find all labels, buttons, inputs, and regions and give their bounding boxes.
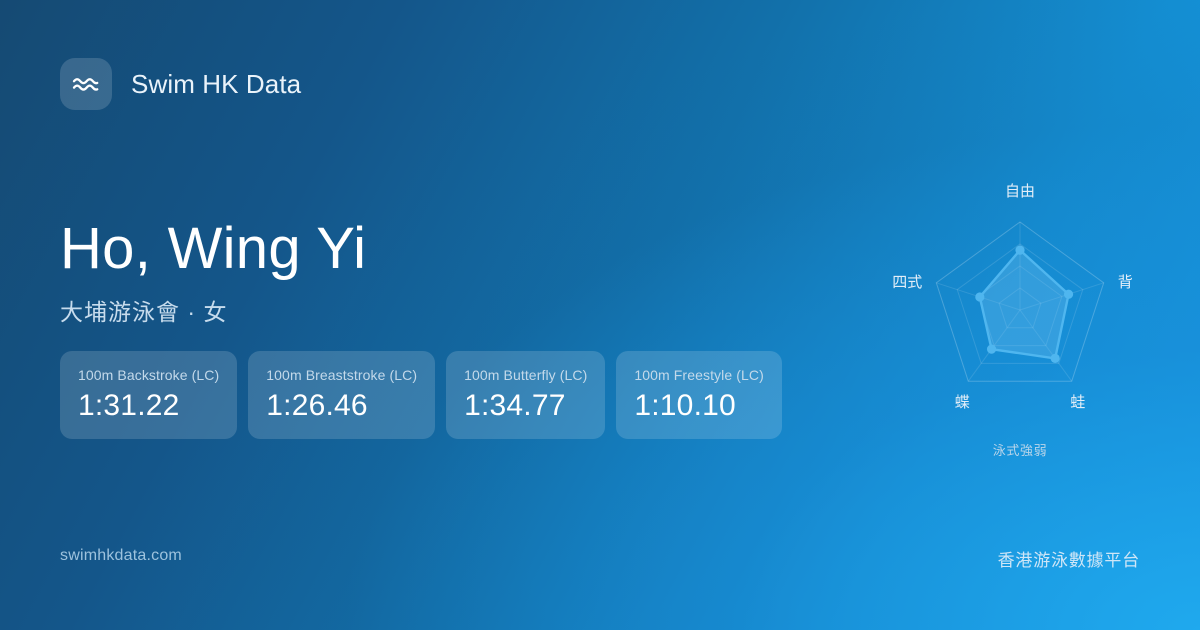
brand-name: Swim HK Data	[131, 69, 301, 100]
radar-axis-label: 自由	[1005, 183, 1035, 200]
radar-axis-label: 四式	[892, 274, 922, 291]
stat-card-value: 1:10.10	[634, 390, 764, 422]
stroke-strength-radar: 自由背蛙蝶四式 泳式強弱	[860, 160, 1180, 480]
event-best-times: 100m Backstroke (LC) 1:31.22 100m Breast…	[60, 351, 782, 439]
page-title: Ho, Wing Yi	[60, 218, 820, 279]
radar-axis-label: 背	[1118, 274, 1133, 291]
athlete-header: Ho, Wing Yi 大埔游泳會 · 女	[60, 218, 820, 327]
waves-icon	[71, 72, 101, 96]
stat-card[interactable]: 100m Backstroke (LC) 1:31.22	[60, 351, 237, 439]
stat-card-value: 1:26.46	[266, 390, 417, 422]
radar-caption: 泳式強弱	[860, 440, 1180, 459]
stat-card[interactable]: 100m Freestyle (LC) 1:10.10	[616, 351, 782, 439]
radar-point	[1064, 290, 1073, 299]
radar-axis-label: 蛙	[1070, 394, 1085, 411]
stat-card[interactable]: 100m Butterfly (LC) 1:34.77	[446, 351, 605, 439]
athlete-subtitle: 大埔游泳會 · 女	[60, 293, 820, 327]
stat-card-label: 100m Butterfly (LC)	[464, 367, 587, 383]
radar-axis-label: 蝶	[955, 394, 970, 411]
share-card: Swim HK Data Ho, Wing Yi 大埔游泳會 · 女 100m …	[0, 0, 1200, 630]
radar-point	[1015, 246, 1024, 255]
stat-card-label: 100m Freestyle (LC)	[634, 367, 764, 383]
stat-card-value: 1:31.22	[78, 390, 219, 422]
footer-tagline: 香港游泳數據平台	[998, 546, 1140, 571]
footer-site-url[interactable]: swimhkdata.com	[60, 547, 182, 565]
app-logo	[60, 58, 112, 110]
radar-point	[975, 292, 984, 301]
stat-card[interactable]: 100m Breaststroke (LC) 1:26.46	[248, 351, 435, 439]
brand-lockup: Swim HK Data	[60, 58, 301, 110]
stat-card-label: 100m Breaststroke (LC)	[266, 367, 417, 383]
radar-point	[1051, 354, 1060, 363]
stat-card-value: 1:34.77	[464, 390, 587, 422]
radar-series-area	[980, 250, 1069, 358]
radar-point	[987, 345, 996, 354]
stat-card-label: 100m Backstroke (LC)	[78, 367, 219, 383]
